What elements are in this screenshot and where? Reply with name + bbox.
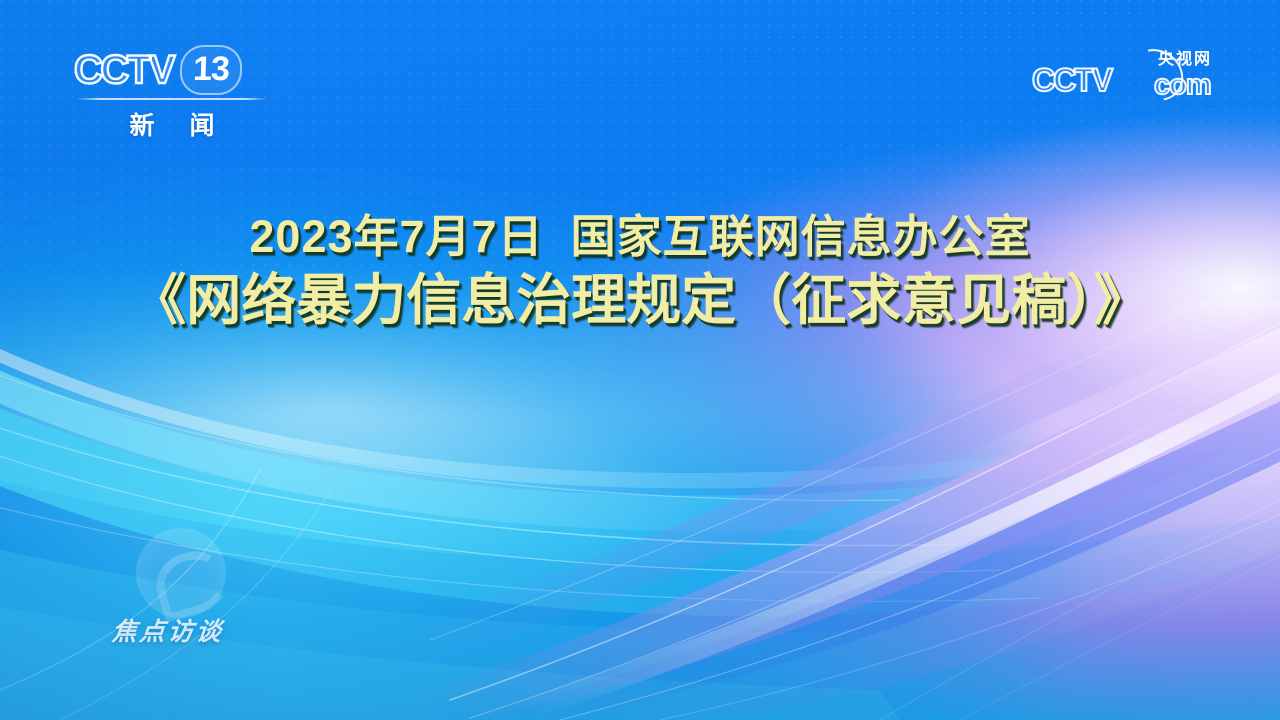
- headline-line-2: 《网络暴力信息治理规定（征求意见稿）》: [0, 273, 1280, 328]
- broadcast-frame: CCTV 13 新 闻 CCTV 央视网 com 2023年7月7日 国家互联网…: [0, 0, 1280, 720]
- cctvcom-site-name-cn: 央视网: [1158, 52, 1212, 68]
- cctv13-underline-rule: [76, 98, 268, 100]
- cctvcom-network-text: CCTV: [1032, 64, 1111, 96]
- cctv13-channel-number: 13: [184, 52, 237, 88]
- cctv13-channel-name: 新 闻: [72, 106, 272, 142]
- cctvcom-website-logo: CCTV 央视网 com: [1032, 52, 1222, 108]
- cctv13-number-pill: 13: [179, 45, 243, 95]
- cctv13-channel-logo: CCTV 13 新 闻: [72, 46, 272, 138]
- cctvcom-site-tld: com: [1154, 71, 1211, 100]
- program-watermark: 焦点访谈: [112, 528, 322, 653]
- headline-line-1: 2023年7月7日 国家互联网信息办公室: [0, 214, 1280, 259]
- program-name-label: 焦点访谈: [110, 612, 226, 648]
- news-headline: 2023年7月7日 国家互联网信息办公室 《网络暴力信息治理规定（征求意见稿）》: [0, 214, 1280, 328]
- cctv13-wordmark: CCTV 13: [72, 46, 272, 94]
- cctv13-network-text: CCTV: [72, 50, 173, 90]
